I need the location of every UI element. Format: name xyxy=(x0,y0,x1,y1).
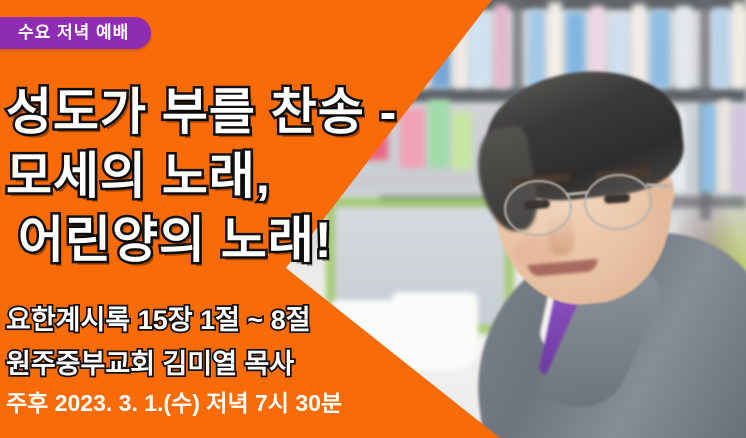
book xyxy=(528,10,545,88)
coffee-mug-right xyxy=(392,292,478,370)
book xyxy=(718,100,731,192)
book xyxy=(452,112,472,170)
book xyxy=(494,4,509,88)
sermon-thumbnail: 수요 저녁 예배 성도가 부를 찬송 - 모세의 노래, 어린양의 노래! 요한… xyxy=(0,0,746,438)
book xyxy=(700,104,716,192)
book xyxy=(632,4,646,88)
title-line-1: 성도가 부를 찬송 - xyxy=(6,80,397,144)
title-line-2: 모세의 노래, xyxy=(6,144,397,208)
scripture-reference: 요한계시록 15장 1절 ~ 8절 xyxy=(6,298,311,342)
sermon-details: 요한계시록 15장 1절 ~ 8절 원주중부교회 김미열 목사 xyxy=(6,298,311,386)
book xyxy=(470,14,490,88)
church-and-pastor: 원주중부교회 김미열 목사 xyxy=(6,342,311,386)
book xyxy=(650,10,670,88)
title-line-3: 어린양의 노래! xyxy=(6,208,397,272)
book xyxy=(428,100,450,168)
service-datetime: 주후 2023. 3. 1.(수) 저녁 7시 30분 xyxy=(6,388,342,418)
service-type-badge: 수요 저녁 예배 xyxy=(0,17,151,49)
sermon-title: 성도가 부를 찬송 - 모세의 노래, 어린양의 노래! xyxy=(6,80,397,272)
book xyxy=(712,8,730,88)
book xyxy=(732,2,746,88)
book xyxy=(400,108,426,168)
book xyxy=(676,6,692,88)
book xyxy=(733,106,746,192)
